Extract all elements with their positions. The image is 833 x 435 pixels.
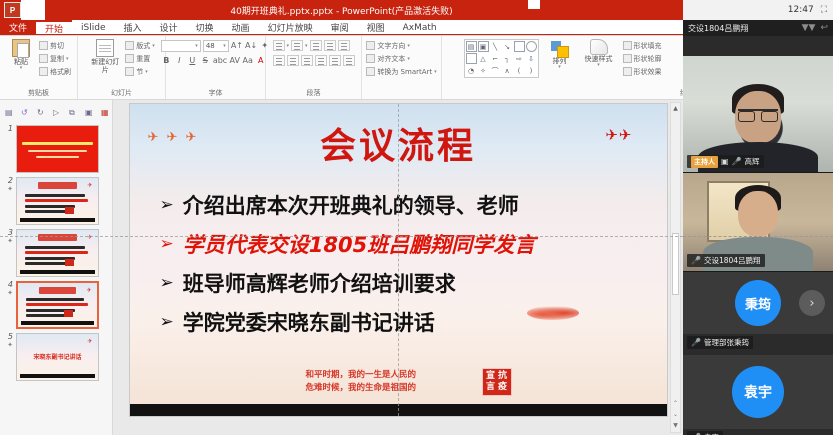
shape-outline-button[interactable]: 形状轮廓 xyxy=(623,53,662,64)
shape-fill-button[interactable]: 形状填充 xyxy=(623,40,662,51)
bullet-text: 介绍出席本次开班典礼的领导、老师 xyxy=(183,190,519,220)
participant-name: 管理部张秉筠 xyxy=(704,337,749,348)
quick-access-toolbar: ▤ ↺ ↻ ▷ ⧉ ▣ ▦ xyxy=(0,104,112,121)
underline-button[interactable]: U xyxy=(187,55,198,67)
seal-char-2: 抗 xyxy=(498,372,507,381)
thumb-speech-art: ✈ 宋晓东副书记讲话 xyxy=(17,334,98,380)
shape-elbow2-icon[interactable]: ┐ xyxy=(502,53,513,64)
justify-icon[interactable] xyxy=(315,55,327,66)
paragraph-row-2 xyxy=(273,54,355,67)
copy-label: 复制 xyxy=(50,54,64,64)
shape-brace-left-icon[interactable]: ( xyxy=(514,65,525,76)
content-area: ▤ ↺ ↻ ▷ ⧉ ▣ ▦ 1 xyxy=(0,100,683,435)
text-direction-button[interactable]: 文字方向 ▾ xyxy=(366,40,436,51)
section-label: 节 xyxy=(136,67,143,77)
align-left-icon[interactable] xyxy=(273,55,285,66)
camera-icon: ▣ xyxy=(721,157,729,166)
increase-font-size-button[interactable]: A↑ xyxy=(231,40,243,52)
mic-icon: 🎤 xyxy=(732,157,742,166)
font-family-select[interactable]: ▾ xyxy=(161,40,201,52)
thumb-number: 5 xyxy=(8,332,13,341)
back-arrow-icon[interactable]: ↩ xyxy=(820,23,828,33)
cut-label: 剪切 xyxy=(50,41,64,51)
thumb-number: 1 xyxy=(8,124,13,133)
tab-axmath[interactable]: AxMath xyxy=(394,20,446,35)
mic-icon: 🎤 xyxy=(691,256,701,265)
present-icon[interactable]: ▷ xyxy=(53,108,63,118)
quick-style-icon xyxy=(590,39,608,55)
tab-home[interactable]: 开始 xyxy=(36,20,72,35)
smartart-label: 转换为 SmartArt xyxy=(377,67,432,77)
shape-brace-right-icon[interactable]: ) xyxy=(526,65,537,76)
shape-effects-label: 形状效果 xyxy=(634,67,662,77)
list-item[interactable]: 1 xyxy=(0,121,112,173)
font-row-2: B I U S abc AV Aa A xyxy=(161,54,266,67)
new-slide-label: 新建幻灯片 xyxy=(88,58,122,74)
save-icon[interactable]: ▤ xyxy=(5,108,15,118)
copy-icon xyxy=(39,54,48,63)
shape-textbox-icon[interactable]: ▤ xyxy=(466,41,477,52)
meeting-panel: 12:47 ⛶ 交设1804吕鹏翔 ▼▼ ↩ 主持人 ▣ 🎤 高辉 xyxy=(683,0,833,435)
mic-muted-icon: 🎤 xyxy=(691,338,701,347)
format-painter-button[interactable]: 格式刷 xyxy=(39,66,71,77)
ribbon-group-drawing: ▤ ▣ ╲ ↘ △ ⌐ ┐ ⇨ ⇩ ◔ ✧ ⌒ xyxy=(442,36,683,99)
reset-icon xyxy=(125,54,134,63)
cut-icon xyxy=(39,41,48,50)
tab-islide[interactable]: iSlide xyxy=(72,20,114,35)
align-text-button[interactable]: 对齐文本 ▾ xyxy=(366,53,436,64)
image-icon[interactable]: ▣ xyxy=(85,108,95,118)
chevron-down-icon: ▾ xyxy=(195,43,198,49)
decrease-font-size-button[interactable]: A↓ xyxy=(245,40,257,52)
seal-char-3: 言 xyxy=(486,383,495,392)
tab-animations[interactable]: 动画 xyxy=(223,20,259,35)
screen: P 40期开班典礼.pptx.pptx - PowerPoint(产品激活失败)… xyxy=(0,0,833,435)
animation-star-icon: ✦ xyxy=(3,238,13,246)
guide-horizontal xyxy=(0,236,683,237)
guide-horizontal-right xyxy=(683,236,833,237)
align-text-icon xyxy=(366,54,375,63)
tile-label-participant-3: 🎤 管理部张秉筠 xyxy=(687,336,753,349)
layout-caret-icon[interactable]: ▾ xyxy=(152,43,155,49)
tab-design[interactable]: 设计 xyxy=(151,20,187,35)
strikethrough-button[interactable]: S xyxy=(200,55,211,67)
list-item[interactable]: ➢ 介绍出席本次开班典礼的领导、老师 xyxy=(160,190,651,220)
arrange-icon xyxy=(551,39,569,57)
shape-curve-icon[interactable]: ⌒ xyxy=(490,65,501,76)
group-label-slides: 幻灯片 xyxy=(78,88,165,98)
tile-label: 🎤 交设1804吕鹏翔 xyxy=(687,254,765,267)
ribbon-group-clipboard: 粘贴 ▾ 剪切 复制 ▾ xyxy=(0,36,78,99)
shape-fill-icon xyxy=(623,41,632,50)
bullet-text: 学员代表交设1805班吕鹏翔同学发言 xyxy=(183,229,535,259)
list-item[interactable]: ➢ 学员代表交设1805班吕鹏翔同学发言 xyxy=(160,229,651,259)
cloud-decor-icon xyxy=(527,306,579,320)
chevron-down-icon[interactable]: ▾ xyxy=(287,43,290,49)
character-spacing-button[interactable]: AV xyxy=(229,55,240,67)
scrollbar-thumb[interactable] xyxy=(672,233,679,295)
status-badge: 主持人 xyxy=(691,156,718,168)
shape-oval-icon[interactable] xyxy=(526,41,537,52)
avatar: 袁宇 xyxy=(732,366,784,418)
chevron-down-icon: ▾ xyxy=(223,43,226,49)
font-size-select[interactable]: 48 ▾ xyxy=(203,40,229,52)
bullet-marker-icon: ➢ xyxy=(160,195,174,215)
bold-button[interactable]: B xyxy=(161,55,172,67)
slide-thumbnail-1[interactable] xyxy=(16,125,99,173)
copy-caret-icon[interactable]: ▾ xyxy=(66,56,69,62)
bullet-text: 班导师高辉老师介绍培训要求 xyxy=(183,268,456,298)
section-icon xyxy=(125,67,134,76)
columns-icon[interactable] xyxy=(329,55,341,66)
ribbon-group-paragraph: ▾ ▾ 段落 xyxy=(266,36,362,99)
text-direction-small-icon[interactable] xyxy=(343,55,355,66)
grid-icon[interactable]: ▦ xyxy=(101,108,111,118)
decrease-indent-icon[interactable] xyxy=(310,40,322,51)
redo-icon[interactable]: ↻ xyxy=(37,108,47,118)
shape-outline-icon xyxy=(623,54,632,63)
slide-thumbnail-4-selected[interactable]: ✈ xyxy=(16,281,99,329)
footer-line-2: 危难时候，我的生命是祖国的 xyxy=(306,382,417,394)
guide-vertical xyxy=(398,104,399,416)
avatar: 秉筠 xyxy=(735,280,781,326)
shape-textbox2-icon[interactable]: ▣ xyxy=(478,41,489,52)
layout-label: 版式 xyxy=(136,41,150,51)
bullet-marker-icon: ➢ xyxy=(160,234,174,254)
smartart-icon xyxy=(366,67,375,76)
chevron-down-icon[interactable]: ▾ xyxy=(558,65,561,71)
slide-thumbnail-2[interactable]: ✈ xyxy=(16,177,99,225)
birds-decor-icon: ✈ xyxy=(86,287,91,294)
chevron-down-icon[interactable]: ▾ xyxy=(597,63,600,69)
list-item[interactable]: ➢ 班导师高辉老师介绍培训要求 xyxy=(160,268,651,298)
animation-star-icon: ✦ xyxy=(3,290,13,298)
ribbon-tabs: 文件 开始 iSlide 插入 设计 切换 动画 幻灯片放映 审阅 视图 AxM… xyxy=(0,20,683,36)
avatar-initials: 秉筠 xyxy=(745,294,771,313)
bullet-text: 学院党委宋晓东副书记讲话 xyxy=(183,307,435,337)
ribbon: 粘贴 ▾ 剪切 复制 ▾ xyxy=(0,36,683,100)
quick-styles-button[interactable]: 快速样式 ▾ xyxy=(581,39,617,69)
next-page-button[interactable]: › xyxy=(799,290,825,316)
bullet-marker-icon: ➢ xyxy=(160,312,174,332)
reset-label: 重置 xyxy=(136,54,150,64)
convert-smartart-button[interactable]: 转换为 SmartArt ▾ xyxy=(366,66,436,77)
undo-icon[interactable]: ↺ xyxy=(21,108,31,118)
powerpoint-logo-icon: P xyxy=(4,2,21,18)
bullet-marker-icon: ➢ xyxy=(160,273,174,293)
list-item[interactable]: 2 ✦ ✈ xyxy=(0,173,112,225)
animation-star-icon: ✦ xyxy=(3,186,13,194)
increase-indent-icon[interactable] xyxy=(324,40,336,51)
shape-arc-icon[interactable]: ∧ xyxy=(502,65,513,76)
shape-roundrect-icon[interactable] xyxy=(466,53,477,64)
paste-caret-icon[interactable]: ▾ xyxy=(20,66,23,72)
align-center-icon[interactable] xyxy=(287,55,299,66)
paste-button[interactable]: 粘贴 ▾ xyxy=(6,39,36,72)
tile-label-participant-4: 🎤 袁宇 xyxy=(687,431,723,435)
tab-insert[interactable]: 插入 xyxy=(115,20,151,35)
chevron-down-icon[interactable]: ▾ xyxy=(305,43,308,49)
logo-letter: P xyxy=(10,6,15,15)
titlebar-left-block xyxy=(21,0,45,20)
tile-label: 主持人 ▣ 🎤 高辉 xyxy=(687,155,764,168)
ribbon-group-text-tools: 文字方向 ▾ 对齐文本 ▾ 转换为 SmartArt ▾ xyxy=(362,36,442,99)
shape-pie-icon[interactable]: ◔ xyxy=(466,65,477,76)
chevron-down-icon[interactable]: ▾ xyxy=(407,56,410,62)
list-item[interactable]: 5 ✦ ✈ 宋晓东副书记讲话 xyxy=(0,329,112,381)
chevron-down-icon[interactable]: ▾ xyxy=(434,69,437,75)
layout-button[interactable]: 版式 ▾ xyxy=(125,40,155,51)
list-item[interactable]: 4 ✦ ✈ xyxy=(0,277,112,329)
font-color-button[interactable]: A xyxy=(255,55,266,67)
line-spacing-icon[interactable] xyxy=(338,40,350,51)
group-label-clipboard: 剪贴板 xyxy=(0,88,77,98)
participant-name: 交设1804吕鹏翔 xyxy=(704,255,761,266)
window-title: 40期开班典礼.pptx.pptx - PowerPoint(产品激活失败) xyxy=(230,4,452,17)
collapse-icon[interactable]: ▼▼ xyxy=(802,23,816,33)
shape-effects-button[interactable]: 形状效果 xyxy=(623,66,662,77)
scroll-down-arrow-icon[interactable]: ▼ xyxy=(672,421,679,430)
shadow-button[interactable]: abc xyxy=(213,55,227,67)
shape-arrow-icon[interactable]: ↘ xyxy=(502,41,513,52)
font-row-1: ▾ 48 ▾ A↑ A↓ ✦ xyxy=(161,39,270,52)
new-slide-icon xyxy=(96,39,114,57)
reset-button[interactable]: 重置 xyxy=(125,53,155,64)
numbering-icon[interactable] xyxy=(291,40,303,51)
tab-slideshow[interactable]: 幻灯片放映 xyxy=(259,20,322,35)
tab-review[interactable]: 审阅 xyxy=(322,20,358,35)
meeting-topbar: 12:47 ⛶ xyxy=(683,0,833,20)
shapes-gallery[interactable]: ▤ ▣ ╲ ↘ △ ⌐ ┐ ⇨ ⇩ ◔ ✧ ⌒ xyxy=(464,39,539,78)
anti-epidemic-seal: 宣 抗 言 疫 xyxy=(482,368,512,396)
italic-button[interactable]: I xyxy=(174,55,185,67)
slide-thumbnail-pane[interactable]: ▤ ↺ ↻ ▷ ⧉ ▣ ▦ 1 xyxy=(0,100,113,435)
birds-decor-icon: ✈ xyxy=(87,338,92,345)
animation-star-icon: ✦ xyxy=(3,342,13,350)
slide-footer-text[interactable]: 和平时期，我的一生是人民的 危难时候，我的生命是祖国的 xyxy=(306,369,417,394)
video-tile-host[interactable]: 主持人 ▣ 🎤 高辉 xyxy=(683,56,833,172)
align-right-icon[interactable] xyxy=(301,55,313,66)
section-caret-icon[interactable]: ▾ xyxy=(145,69,148,75)
current-slide[interactable]: ✈ ✈ ✈ ✈✈ 会议流程 ➢ 介绍出席本次开班典礼的领导、老师 ➢ 学员代表交… xyxy=(129,103,668,417)
ribbon-group-slides: 新建幻灯片 版式 ▾ 重置 xyxy=(78,36,166,99)
shape-elbow-icon[interactable]: ⌐ xyxy=(490,53,501,64)
new-slide-button[interactable]: 新建幻灯片 xyxy=(88,39,122,74)
shape-outline-label: 形状轮廓 xyxy=(634,54,662,64)
group-label-drawing: 绘图 xyxy=(642,88,683,98)
meeting-header: 交设1804吕鹏翔 ▼▼ ↩ xyxy=(683,20,833,36)
section-button[interactable]: 节 ▾ xyxy=(125,66,155,77)
video-tile-participant-2[interactable]: 🎤 交设1804吕鹏翔 xyxy=(683,173,833,271)
video-tile-participant-4[interactable]: 袁宇 xyxy=(683,355,833,429)
thumb-speech-text: 宋晓东副书记讲话 xyxy=(17,352,98,361)
active-speaker-name: 交设1804吕鹏翔 xyxy=(688,23,748,34)
chevron-down-icon[interactable]: ▾ xyxy=(407,43,410,49)
video-tile-participant-3[interactable]: 秉筠 › xyxy=(683,272,833,334)
text-direction-label: 文字方向 xyxy=(377,41,405,51)
clock: 12:47 xyxy=(788,5,814,15)
birds-decor-icon: ✈ xyxy=(87,182,92,189)
shape-down-arrow-icon[interactable]: ⇩ xyxy=(526,53,537,64)
shape-effect-icon xyxy=(623,67,632,76)
copy-button[interactable]: 复制 ▾ xyxy=(39,53,71,64)
align-text-label: 对齐文本 xyxy=(377,54,405,64)
participant-name: 高辉 xyxy=(745,156,760,167)
ribbon-group-font: ▾ 48 ▾ A↑ A↓ ✦ B I U S xyxy=(166,36,266,99)
change-case-button[interactable]: Aa xyxy=(242,55,253,67)
shape-triangle-icon[interactable]: △ xyxy=(478,53,489,64)
titlebar-notch xyxy=(528,0,540,9)
font-size-value: 48 xyxy=(206,42,215,50)
text-direction-icon xyxy=(366,41,375,50)
powerpoint-window: P 40期开班典礼.pptx.pptx - PowerPoint(产品激活失败)… xyxy=(0,0,683,435)
paste-icon xyxy=(12,39,30,57)
title-bar: P 40期开班典礼.pptx.pptx - PowerPoint(产品激活失败) xyxy=(0,0,683,20)
slide-thumbnail-5[interactable]: ✈ 宋晓东副书记讲话 xyxy=(16,333,99,381)
thumb-flow-art: ✈ xyxy=(17,178,98,224)
format-painter-icon xyxy=(39,67,48,76)
paragraph-row-1: ▾ ▾ xyxy=(273,39,350,52)
thumb-number: 2 xyxy=(8,176,13,185)
footer-line-1: 和平时期，我的一生是人民的 xyxy=(306,369,417,381)
editor-vertical-scrollbar[interactable]: ▲ ⌃ ⌄ ▼ xyxy=(670,102,681,433)
tab-view[interactable]: 视图 xyxy=(358,20,394,35)
shape-block-arrow-icon[interactable]: ⇨ xyxy=(514,53,525,64)
group-label-paragraph: 段落 xyxy=(266,88,361,98)
thumb-number: 4 xyxy=(8,280,13,289)
tab-file[interactable]: 文件 xyxy=(0,20,36,35)
scroll-up-arrow-icon[interactable]: ▲ xyxy=(671,103,680,114)
format-painter-label: 格式刷 xyxy=(50,67,71,77)
seal-char-1: 宣 xyxy=(486,372,495,381)
tab-transitions[interactable]: 切换 xyxy=(187,20,223,35)
chevron-right-icon: › xyxy=(809,296,814,311)
previous-slide-button[interactable]: ⌃ xyxy=(672,399,679,408)
seal-char-4: 疫 xyxy=(498,383,507,392)
shape-line-icon[interactable]: ╲ xyxy=(490,41,501,52)
list-item[interactable]: 3 ✦ ✈ xyxy=(0,225,112,277)
cut-button[interactable]: 剪切 xyxy=(39,40,71,51)
slide-editor: ✈ ✈ ✈ ✈✈ 会议流程 ➢ 介绍出席本次开班典礼的领导、老师 ➢ 学员代表交… xyxy=(113,100,683,435)
thumb-title-slide-art xyxy=(17,126,98,172)
layout-icon xyxy=(125,41,134,50)
shape-star-icon[interactable]: ✧ xyxy=(478,65,489,76)
shape-fill-label: 形状填充 xyxy=(634,41,662,51)
group-label-font: 字体 xyxy=(166,88,265,98)
bullets-icon[interactable] xyxy=(273,40,285,51)
arrange-button[interactable]: 排列 ▾ xyxy=(545,39,575,71)
avatar-initials: 袁宇 xyxy=(744,382,772,402)
next-slide-button[interactable]: ⌄ xyxy=(672,410,679,419)
thumb-flow-art: ✈ xyxy=(18,283,97,327)
fullscreen-icon[interactable]: ⛶ xyxy=(821,5,827,15)
copy-icon[interactable]: ⧉ xyxy=(69,108,79,118)
shape-rect-icon[interactable] xyxy=(514,41,525,52)
